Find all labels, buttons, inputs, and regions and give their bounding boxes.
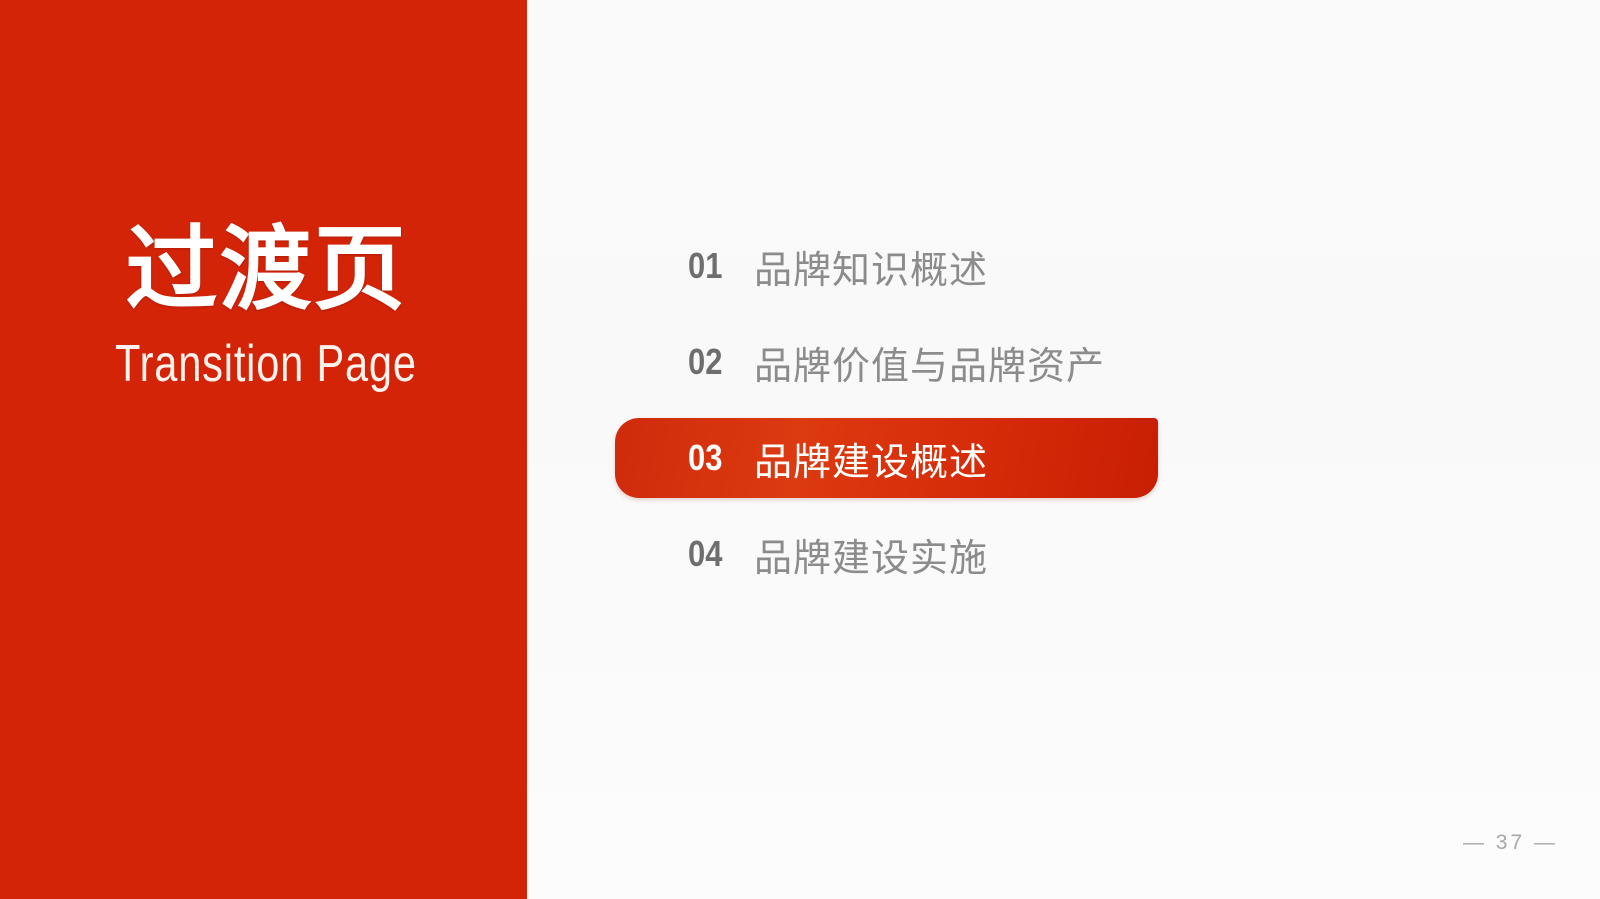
agenda-number: 01 (688, 245, 733, 287)
agenda-label: 品牌价值与品牌资产 (754, 335, 1105, 390)
agenda-number: 04 (688, 533, 733, 575)
agenda-label: 品牌建设概述 (754, 431, 988, 486)
agenda-label: 品牌建设实施 (754, 527, 988, 582)
left-accent-panel: 过渡页 Transition Page (0, 0, 527, 899)
agenda-item-02[interactable]: 02 品牌价值与品牌资产 (615, 322, 1235, 402)
agenda-item-03-active[interactable]: 03 品牌建设概述 (615, 418, 1158, 498)
agenda-item-01[interactable]: 01 品牌知识概述 (615, 226, 1235, 306)
agenda-list: 01 品牌知识概述 02 品牌价值与品牌资产 03 品牌建设概述 04 品牌建设… (615, 226, 1235, 594)
slide-title-cn: 过渡页 (0, 224, 527, 316)
agenda-label: 品牌知识概述 (754, 239, 988, 294)
agenda-item-04[interactable]: 04 品牌建设实施 (615, 514, 1235, 594)
slide-title-en: Transition Page (53, 338, 475, 390)
slide-canvas: 过渡页 Transition Page 01 品牌知识概述 02 品牌价值与品牌… (0, 0, 1600, 899)
agenda-number: 02 (688, 341, 733, 383)
agenda-number: 03 (688, 437, 733, 479)
title-block: 过渡页 Transition Page (0, 224, 527, 390)
page-number: — 37 — (1463, 831, 1558, 855)
